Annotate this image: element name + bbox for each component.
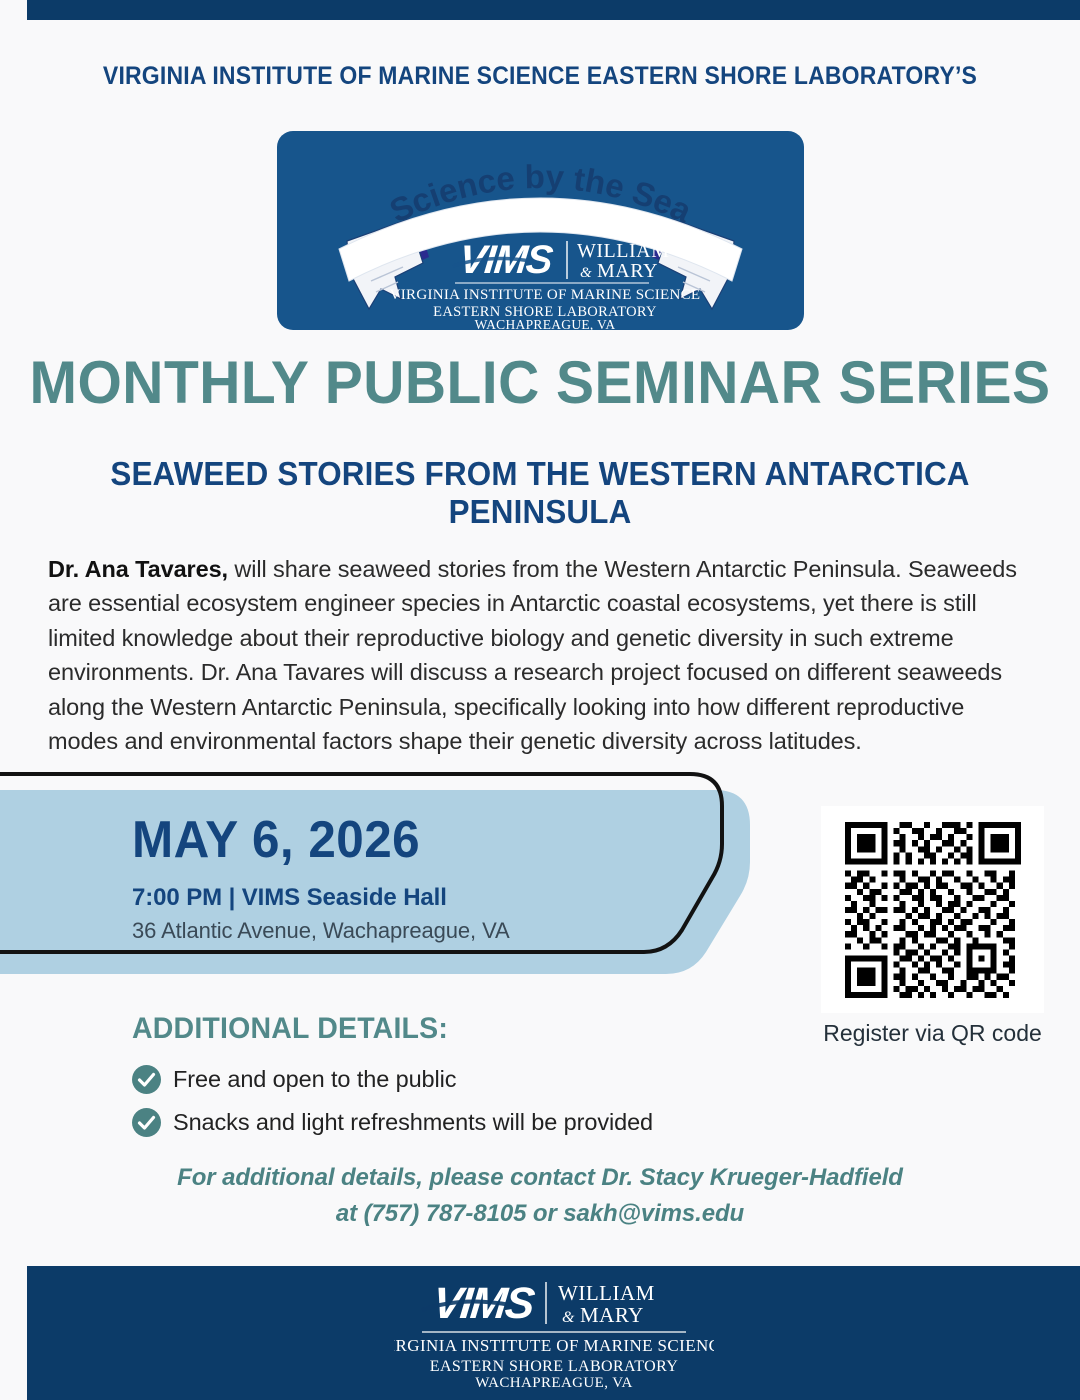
additional-details-list: Free and open to the public Snacks and l… <box>132 1058 832 1144</box>
event-address: 36 Atlantic Avenue, Wachapreague, VA <box>132 918 692 944</box>
footer-city: WACHAPREAGUE, VA <box>475 1375 633 1391</box>
science-by-the-sea-logo: Science by the Sea VIMS WILLIAM & MARY V… <box>277 131 804 330</box>
footer-partner-amp: & <box>562 1309 575 1326</box>
footer-partner-1: WILLIAM <box>558 1281 655 1305</box>
additional-details-heading: ADDITIONAL DETAILS: <box>132 1012 448 1046</box>
footer-lab: EASTERN SHORE LABORATORY <box>429 1358 677 1375</box>
check-circle-icon <box>132 1108 161 1137</box>
abstract-paragraph: Dr. Ana Tavares, will share seaweed stor… <box>48 552 1026 759</box>
footer-partner-2: MARY <box>580 1303 644 1327</box>
list-item: Free and open to the public <box>132 1058 832 1101</box>
footer-institute: VIRGINIA INSTITUTE OF MARINE SCIENCE <box>394 1336 714 1355</box>
qr-caption: Register via QR code <box>760 1020 1080 1047</box>
svg-text:WILLIAM: WILLIAM <box>577 240 669 262</box>
qr-code-icon[interactable] <box>845 822 1021 998</box>
logo-artwork: Science by the Sea VIMS WILLIAM & MARY V… <box>277 131 804 330</box>
contact-block: For additional details, please contact D… <box>0 1160 1080 1232</box>
footer-logo-artwork: VIMS WILLIAM & MARY VIRGINIA INSTITUTE O… <box>394 1274 714 1392</box>
contact-line-2: at (757) 787-8105 or sakh@vims.edu <box>0 1196 1080 1232</box>
top-accent-bar <box>27 0 1080 20</box>
seminar-flyer: VIRGINIA INSTITUTE OF MARINE SCIENCE EAS… <box>0 0 1080 1400</box>
logo-institute: VIRGINIA INSTITUTE OF MARINE SCIENCE <box>390 287 701 303</box>
detail-label: Snacks and light refreshments will be pr… <box>173 1109 653 1136</box>
series-title: MONTHLY PUBLIC SEMINAR SERIES <box>27 352 1053 414</box>
organization-kicker: VIRGINIA INSTITUTE OF MARINE SCIENCE EAS… <box>43 62 1037 91</box>
check-circle-icon <box>132 1065 161 1094</box>
footer-logo: VIMS WILLIAM & MARY VIRGINIA INSTITUTE O… <box>27 1266 1080 1400</box>
event-info-block: MAY 6, 2026 7:00 PM | VIMS Seaside Hall … <box>132 812 692 944</box>
svg-text:MARY: MARY <box>597 260 658 282</box>
qr-code-card[interactable] <box>821 806 1044 1013</box>
abstract-body: will share seaweed stories from the West… <box>48 556 1017 755</box>
detail-label: Free and open to the public <box>173 1066 456 1093</box>
vims-wordmark: VIMS WILLIAM & MARY <box>453 238 669 282</box>
speaker-name: Dr. Ana Tavares, <box>48 556 228 582</box>
footer-vims-wordmark: VIMS <box>422 1279 537 1328</box>
logo-city: WACHAPREAGUE, VA <box>475 317 616 330</box>
talk-title: SEAWEED STORIES FROM THE WESTERN ANTARCT… <box>27 455 1053 531</box>
contact-line-1: For additional details, please contact D… <box>0 1160 1080 1196</box>
event-date: MAY 6, 2026 <box>132 812 664 868</box>
event-time-venue: 7:00 PM | VIMS Seaside Hall <box>132 884 692 912</box>
svg-text:&: & <box>580 265 592 281</box>
list-item: Snacks and light refreshments will be pr… <box>132 1101 832 1144</box>
